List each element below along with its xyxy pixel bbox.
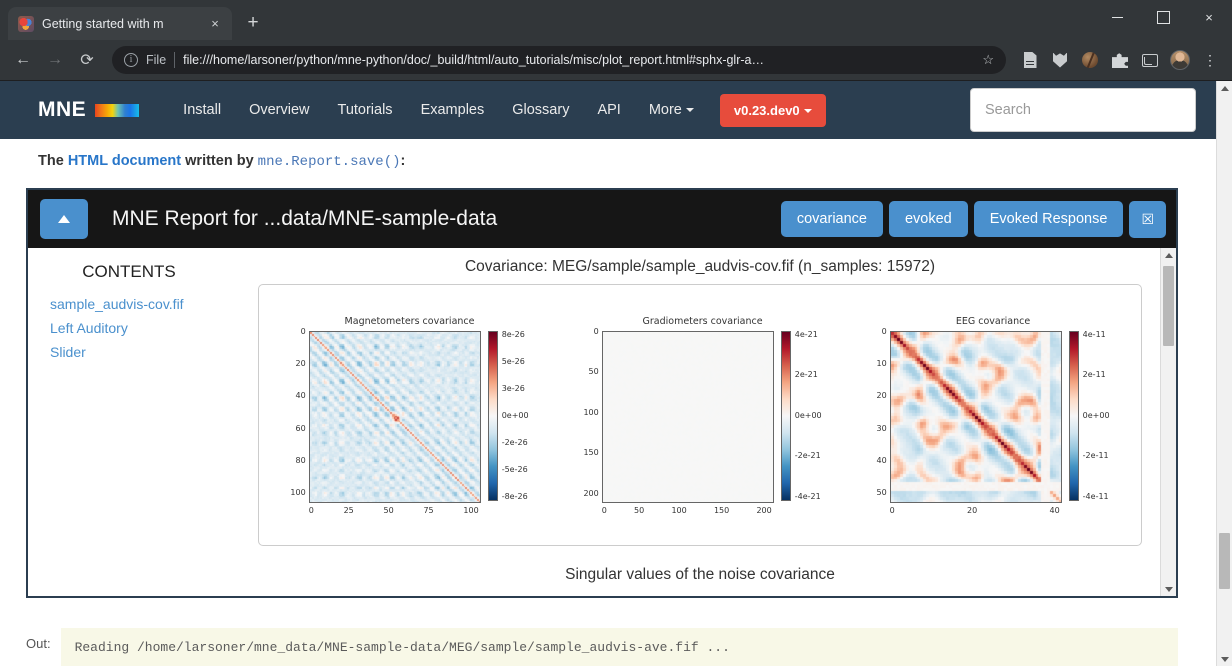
site-navbar: MNE Install Overview Tutorials Examples … (0, 81, 1216, 139)
y-axis-ticks: 020406080100 (290, 331, 308, 501)
page-scrollbar[interactable] (1216, 81, 1232, 666)
nav-item-overview[interactable]: Overview (235, 94, 323, 126)
close-icon[interactable]: × (206, 15, 224, 33)
scrollbar-track[interactable] (1161, 262, 1176, 582)
nav-item-api[interactable]: API (583, 94, 634, 126)
output-label: Out: (26, 628, 51, 651)
report-contents-sidebar: CONTENTS sample_audvis-cov.fif Left Audi… (28, 248, 240, 596)
filter-button-covariance[interactable]: covariance (781, 201, 883, 237)
back-button[interactable]: ← (8, 45, 38, 75)
report-body: CONTENTS sample_audvis-cov.fif Left Audi… (28, 248, 1176, 596)
omnibox-divider (174, 52, 175, 68)
chart-eeg-covariance: EEG covariance 01020304050 02040 (876, 316, 1109, 515)
chart-gradiometers-covariance: Gradiometers covariance 050100150200 050… (583, 316, 821, 515)
page-content: MNE Install Overview Tutorials Examples … (0, 81, 1216, 666)
colorbar: 8e-265e-263e-260e+00-2e-26-5e-26-8e-26 (488, 331, 529, 501)
x-axis-ticks: 050100150200 (602, 506, 772, 515)
report-toolbar: covariance evoked Evoked Response ☒ (781, 201, 1166, 238)
browser-window: Getting started with m × + × ← → ⟳ i Fil… (0, 0, 1232, 666)
contents-item-cov[interactable]: sample_audvis-cov.fif (28, 292, 230, 316)
page-viewport: MNE Install Overview Tutorials Examples … (0, 80, 1232, 666)
chevron-down-icon (686, 108, 694, 112)
nav-item-more[interactable]: More (635, 94, 708, 126)
nav-item-examples[interactable]: Examples (407, 94, 499, 126)
heatmap-plot-area (890, 331, 1062, 503)
report-header: MNE Report for ...data/MNE-sample-data c… (28, 190, 1176, 248)
minimize-icon[interactable] (1094, 0, 1140, 34)
site-logo[interactable]: MNE (38, 98, 139, 122)
tab-title: Getting started with m (42, 17, 198, 31)
y-axis-ticks: 050100150200 (583, 331, 601, 501)
contents-heading: CONTENTS (28, 262, 230, 282)
search-input[interactable]: Search (970, 88, 1196, 132)
covariance-heading: Covariance: MEG/sample/sample_audvis-cov… (240, 258, 1160, 276)
contents-item-left-auditory[interactable]: Left Auditory (28, 316, 230, 340)
doc-text-mid: written by (181, 153, 258, 169)
doc-code-ref: mne.Report.save() (258, 154, 401, 170)
site-info-icon[interactable]: i (124, 53, 138, 67)
document-icon[interactable] (1016, 46, 1044, 74)
page-scroll-down-icon[interactable] (1217, 652, 1232, 666)
forward-button[interactable]: → (40, 45, 70, 75)
nav-more-label: More (649, 102, 682, 118)
new-tab-button[interactable]: + (238, 8, 268, 38)
nav-item-install[interactable]: Install (169, 94, 235, 126)
report-main-panel: Covariance: MEG/sample/sample_audvis-cov… (240, 248, 1160, 596)
colorbar-ticks: 8e-265e-263e-260e+00-2e-26-5e-26-8e-26 (498, 331, 529, 501)
mne-logo-favicon (18, 16, 34, 32)
chart-title: EEG covariance (956, 316, 1030, 327)
doc-text-post: : (401, 153, 406, 169)
page-scrollbar-track[interactable] (1217, 95, 1232, 652)
search-placeholder: Search (985, 102, 1031, 118)
page-scroll-up-icon[interactable] (1217, 81, 1232, 95)
doc-paragraph: The HTML document written by mne.Report.… (0, 139, 1216, 170)
heatmap-plot-area (602, 331, 774, 503)
covariance-figure-card: Magnetometers covariance 020406080100 02… (258, 284, 1142, 546)
report-iframe: MNE Report for ...data/MNE-sample-data c… (26, 188, 1178, 598)
version-dropdown[interactable]: v0.23.dev0 (720, 94, 826, 127)
scrollbar-thumb[interactable] (1163, 266, 1174, 346)
scroll-down-icon[interactable] (1161, 582, 1177, 596)
version-label: v0.23.dev0 (734, 103, 800, 118)
chart-magnetometers-covariance: Magnetometers covariance 020406080100 02… (290, 316, 528, 515)
report-title: MNE Report for ...data/MNE-sample-data (112, 207, 771, 231)
logo-text: MNE (38, 98, 86, 122)
shield-icon[interactable] (1046, 46, 1074, 74)
close-all-icon[interactable]: ☒ (1129, 201, 1166, 238)
filter-button-evoked-response[interactable]: Evoked Response (974, 201, 1124, 237)
maximize-icon[interactable] (1140, 0, 1186, 34)
url-scheme-label: File (146, 53, 166, 67)
coffee-bean-icon[interactable] (1076, 46, 1104, 74)
reload-button[interactable]: ⟳ (72, 45, 102, 75)
output-console: Reading /home/larsoner/mne_data/MNE-samp… (61, 628, 1178, 666)
chevron-down-icon (804, 109, 812, 113)
colorbar-ticks: 4e-212e-210e+00-2e-21-4e-21 (791, 331, 822, 501)
contents-item-slider[interactable]: Slider (28, 340, 230, 364)
x-axis-ticks: 02040 (890, 506, 1060, 515)
tab-strip: Getting started with m × + (0, 0, 268, 40)
url-text[interactable]: file:///home/larsoner/python/mne-python/… (183, 53, 974, 67)
report-scrollbar[interactable] (1160, 248, 1176, 596)
window-controls: × (1094, 0, 1232, 34)
nav-links: Install Overview Tutorials Examples Glos… (169, 94, 825, 127)
logo-gradient-icon (95, 104, 139, 117)
browser-toolbar: ← → ⟳ i File file:///home/larsoner/pytho… (0, 40, 1232, 80)
bookmark-star-icon[interactable]: ☆ (982, 52, 994, 68)
scroll-up-icon[interactable] (1161, 248, 1177, 262)
output-section: Out: Reading /home/larsoner/mne_data/MNE… (26, 628, 1178, 666)
cast-icon[interactable] (1136, 46, 1164, 74)
browser-tab[interactable]: Getting started with m × (8, 7, 232, 40)
avatar-icon[interactable] (1166, 46, 1194, 74)
x-axis-ticks: 0255075100 (309, 506, 479, 515)
overflow-menu-icon[interactable]: ⋮ (1196, 46, 1224, 74)
colorbar-ticks: 4e-112e-110e+00-2e-11-4e-11 (1079, 331, 1110, 501)
singular-values-heading: Singular values of the noise covariance (240, 566, 1160, 584)
heatmap-plot-area (309, 331, 481, 503)
page-scrollbar-thumb[interactable] (1219, 533, 1230, 589)
address-bar[interactable]: i File file:///home/larsoner/python/mne-… (112, 46, 1006, 74)
browser-titlebar: Getting started with m × + × (0, 0, 1232, 40)
html-document-link[interactable]: HTML document (68, 153, 181, 169)
y-axis-ticks: 01020304050 (876, 331, 889, 501)
chart-title: Gradiometers covariance (643, 316, 763, 327)
filter-button-evoked[interactable]: evoked (889, 201, 968, 237)
colorbar: 4e-212e-210e+00-2e-21-4e-21 (781, 331, 822, 501)
nav-item-tutorials[interactable]: Tutorials (324, 94, 407, 126)
chart-title: Magnetometers covariance (345, 316, 475, 327)
doc-text-pre: The (38, 153, 68, 169)
puzzle-icon[interactable] (1106, 46, 1134, 74)
nav-item-glossary[interactable]: Glossary (498, 94, 583, 126)
colorbar: 4e-112e-110e+00-2e-11-4e-11 (1069, 331, 1110, 501)
scroll-to-top-icon[interactable] (40, 199, 88, 239)
window-close-icon[interactable]: × (1186, 0, 1232, 34)
